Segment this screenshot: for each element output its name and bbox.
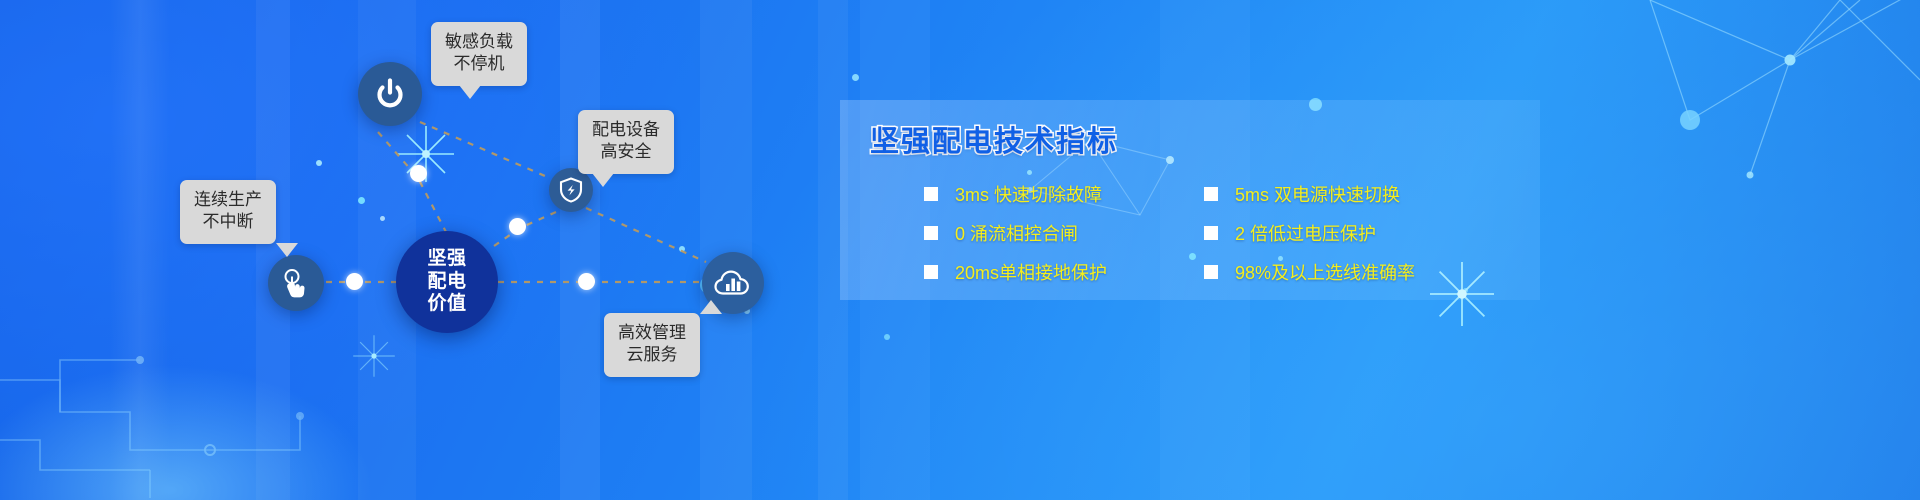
spec-item: 3ms 快速切除故障 xyxy=(924,174,1204,213)
spec-panel-title: 坚强配电技术指标 xyxy=(870,118,1118,160)
link-waypoint xyxy=(578,273,595,290)
callout-shield-line-1: 配电设备 xyxy=(592,120,660,139)
callout-cloud-line-2: 云服务 xyxy=(627,345,678,364)
callout-power: 敏感负载 不停机 xyxy=(431,22,527,86)
spec-item: 0 涌流相控合闸 xyxy=(924,213,1204,252)
node-power[interactable] xyxy=(358,62,422,126)
spec-item-label: 0 涌流相控合闸 xyxy=(955,220,1078,246)
cloud-chart-icon xyxy=(714,268,752,298)
power-icon xyxy=(373,77,407,111)
callout-shield-line-2: 高安全 xyxy=(601,142,652,161)
callout-cloud: 高效管理 云服务 xyxy=(604,313,700,377)
square-bullet-icon xyxy=(1204,265,1218,279)
callout-touch-line-2: 不中断 xyxy=(203,212,254,231)
diagram-hub[interactable]: 坚强 配电 价值 xyxy=(396,231,498,333)
callout-tail xyxy=(700,300,722,314)
callout-tail xyxy=(276,243,298,257)
square-bullet-icon xyxy=(924,226,938,240)
spec-item: 20ms单相接地保护 xyxy=(924,252,1204,291)
square-bullet-icon xyxy=(924,187,938,201)
callout-cloud-line-1: 高效管理 xyxy=(618,323,686,342)
link-waypoint xyxy=(509,218,526,235)
callout-power-line-1: 敏感负载 xyxy=(445,32,513,51)
square-bullet-icon xyxy=(924,265,938,279)
spec-item-label: 3ms 快速切除故障 xyxy=(955,181,1102,207)
spec-item: 5ms 双电源快速切换 xyxy=(1204,174,1484,213)
callout-touch-line-1: 连续生产 xyxy=(194,190,262,209)
node-touch[interactable] xyxy=(268,255,324,311)
spec-item-label: 2 倍低过电压保护 xyxy=(1235,220,1376,246)
spec-item-label: 98%及以上选线准确率 xyxy=(1235,259,1415,285)
node-shield[interactable] xyxy=(549,168,593,212)
callout-power-line-2: 不停机 xyxy=(454,54,505,73)
promo-banner: 敏感负载 不停机 配电设备 高安全 xyxy=(0,0,1920,500)
callout-tail xyxy=(592,173,614,187)
spec-item: 2 倍低过电压保护 xyxy=(1204,213,1484,252)
shield-icon xyxy=(559,177,583,203)
callout-tail xyxy=(459,85,481,99)
link-waypoint xyxy=(410,165,427,182)
callout-shield: 配电设备 高安全 xyxy=(578,110,674,174)
spec-item-label: 20ms单相接地保护 xyxy=(955,259,1107,285)
hub-line-2: 配电 xyxy=(427,271,466,293)
spec-item-label: 5ms 双电源快速切换 xyxy=(1235,181,1400,207)
spec-panel: 坚强配电技术指标 3ms 快速切除故障 5ms 双电源快速切换 0 涌流相控合闸… xyxy=(840,100,1540,300)
hub-line-1: 坚强 xyxy=(427,248,466,270)
value-diagram: 敏感负载 不停机 配电设备 高安全 xyxy=(0,0,980,500)
callout-touch: 连续生产 不中断 xyxy=(180,180,276,244)
spec-list: 3ms 快速切除故障 5ms 双电源快速切换 0 涌流相控合闸 2 倍低过电压保… xyxy=(924,174,1524,291)
touch-hand-icon xyxy=(281,267,311,299)
spec-item: 98%及以上选线准确率 xyxy=(1204,252,1484,291)
square-bullet-icon xyxy=(1204,226,1218,240)
square-bullet-icon xyxy=(1204,187,1218,201)
link-waypoint xyxy=(346,273,363,290)
hub-line-3: 价值 xyxy=(427,293,466,315)
